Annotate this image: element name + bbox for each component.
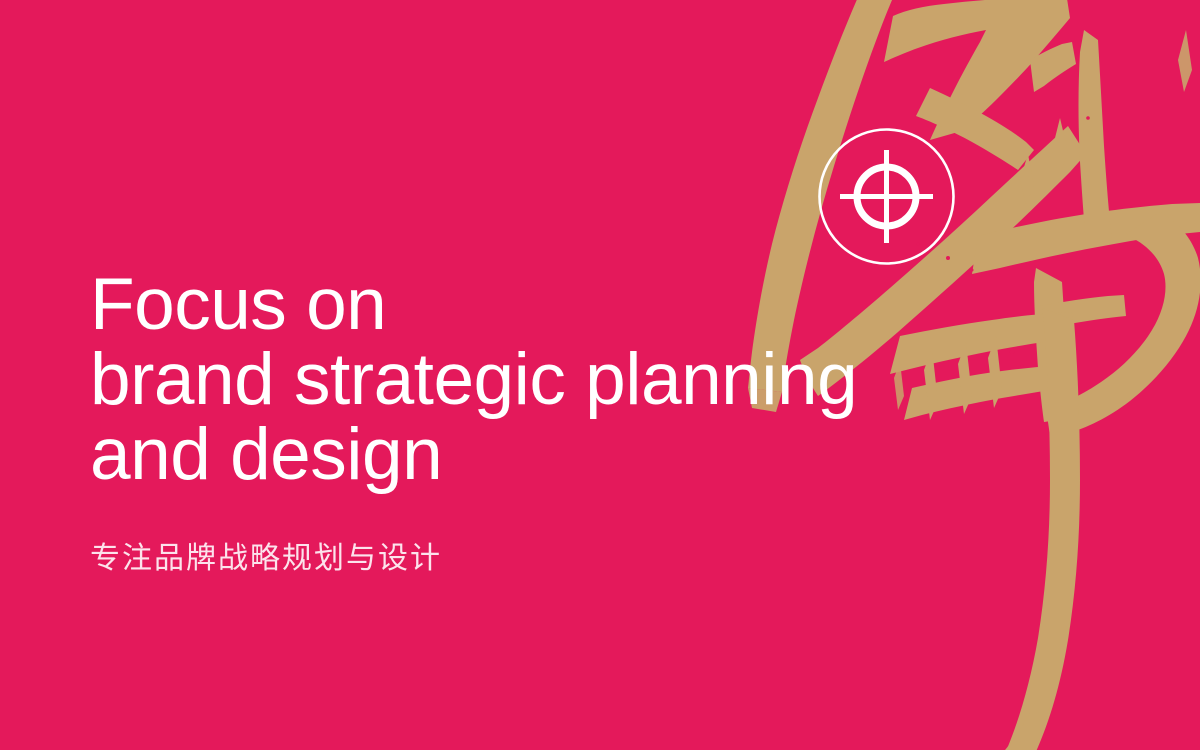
page-title: Focus on brand strategic planning and de… [90,267,1030,492]
headline-line-3: and design [90,417,1030,492]
presentation-slide: Focus on brand strategic planning and de… [0,0,1200,750]
headline-line-1: Focus on [90,267,1030,342]
subtitle: 专注品牌战略规划与设计 [90,541,1030,577]
headline-line-2: brand strategic planning [90,342,1030,417]
title-text-block: Focus on brand strategic planning and de… [90,218,1030,577]
